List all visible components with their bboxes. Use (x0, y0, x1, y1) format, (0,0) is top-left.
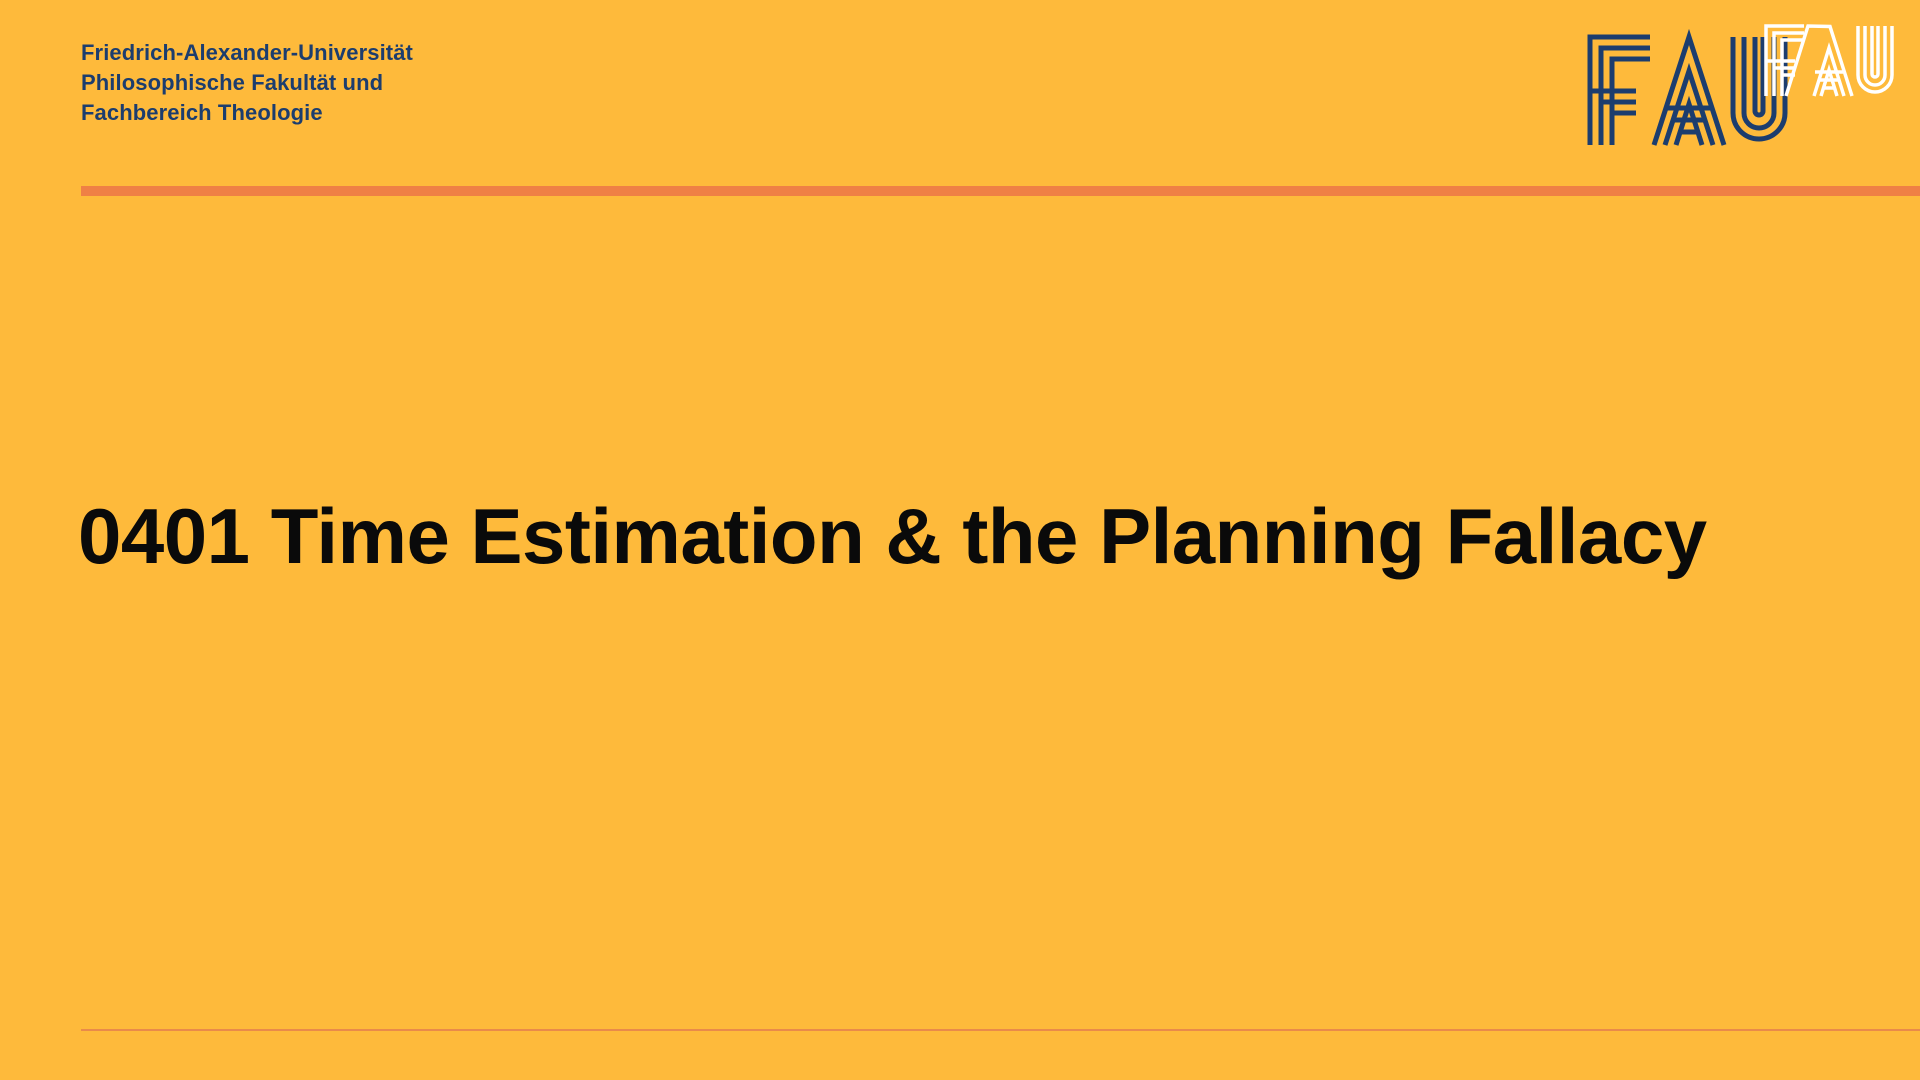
organization-line-2: Philosophische Fakultät und (81, 68, 413, 98)
header-accent-rule (81, 186, 1920, 196)
footer-hairline (81, 1029, 1920, 1031)
organization-name: Friedrich-Alexander-Universität Philosop… (81, 38, 413, 128)
page-title: 0401 Time Estimation & the Planning Fall… (78, 490, 1858, 582)
fau-logo (1576, 8, 1906, 153)
slide-header: Friedrich-Alexander-Universität Philosop… (0, 0, 1920, 196)
slide-root: Friedrich-Alexander-Universität Philosop… (0, 0, 1920, 1080)
organization-line-3: Fachbereich Theologie (81, 98, 413, 128)
fau-logo-icon (1576, 8, 1906, 153)
organization-line-1: Friedrich-Alexander-Universität (81, 38, 413, 68)
